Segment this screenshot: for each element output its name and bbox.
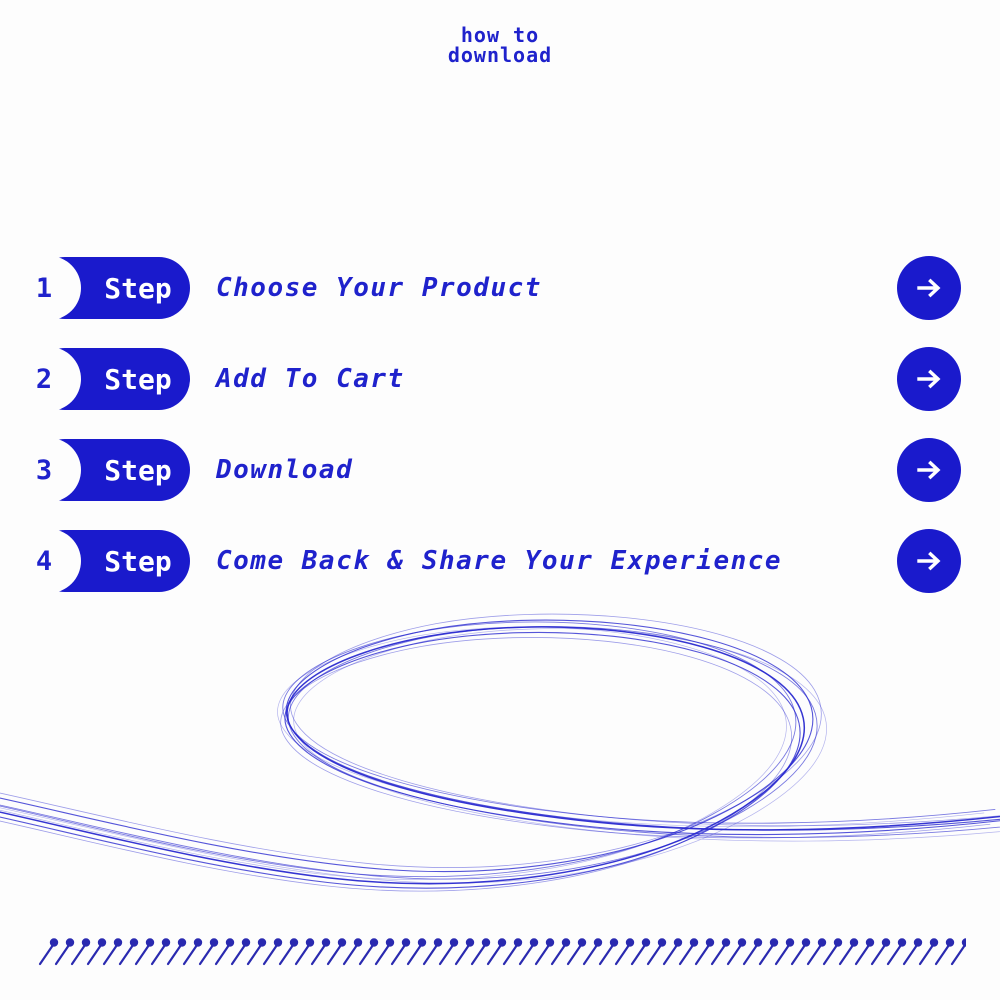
step-row[interactable]: 4 Step Come Back & Share Your Experience: [0, 526, 1000, 596]
title-line-2: download: [0, 46, 1000, 66]
arrow-right-icon: [912, 453, 946, 487]
step-row[interactable]: 1 Step Choose Your Product: [0, 253, 1000, 323]
step-badge: 2 Step: [34, 348, 190, 410]
arrow-right-icon: [912, 362, 946, 396]
step-badge: 3 Step: [34, 439, 190, 501]
step-badge: 1 Step: [34, 257, 190, 319]
step-description: Choose Your Product: [216, 273, 542, 303]
arrow-right-icon: [912, 271, 946, 305]
step-badge: 4 Step: [34, 530, 190, 592]
step-arrow-button[interactable]: [897, 529, 961, 593]
step-description: Download: [216, 455, 353, 485]
step-number: 2: [18, 348, 70, 410]
step-label: Step: [86, 439, 190, 501]
step-number: 3: [18, 439, 70, 501]
step-label: Step: [86, 530, 190, 592]
hand-drawn-loop-swirl: [0, 596, 1000, 906]
step-number: 4: [18, 530, 70, 592]
step-row[interactable]: 3 Step Download: [0, 435, 1000, 505]
step-row[interactable]: 2 Step Add To Cart: [0, 344, 1000, 414]
step-label: Step: [86, 257, 190, 319]
page-title: how to download: [0, 26, 1000, 65]
poster-canvas: how to download 1 Step Choose Your Produ…: [0, 0, 1000, 1000]
step-arrow-button[interactable]: [897, 256, 961, 320]
step-arrow-button[interactable]: [897, 438, 961, 502]
step-description: Come Back & Share Your Experience: [216, 546, 782, 576]
steps-list: 1 Step Choose Your Product 2 Step Add To…: [0, 253, 1000, 617]
step-label: Step: [86, 348, 190, 410]
step-number: 1: [18, 257, 70, 319]
step-arrow-button[interactable]: [897, 347, 961, 411]
diagonal-pin-border: [38, 934, 966, 968]
step-description: Add To Cart: [216, 364, 405, 394]
arrow-right-icon: [912, 544, 946, 578]
